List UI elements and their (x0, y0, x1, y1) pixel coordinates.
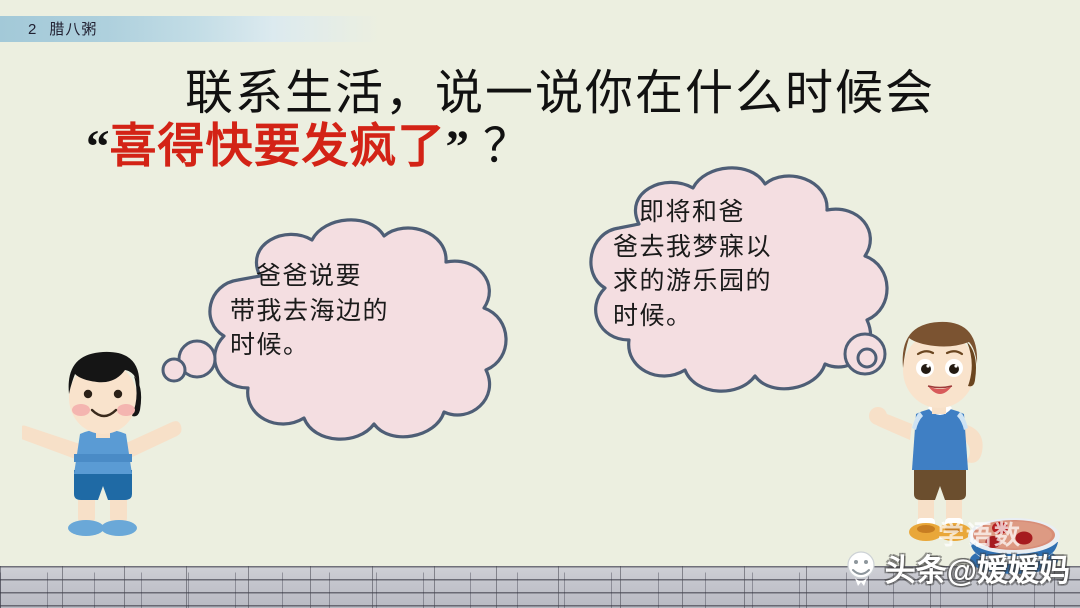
thought-bubble-right: 即将和爸爸去我梦寐以求的游乐园的时候。 (565, 168, 905, 408)
watermark-handle: @嫒嫒妈 (947, 553, 1070, 588)
boy-black-hair-illustration (22, 322, 182, 547)
watermark-platform: 头条 (885, 553, 947, 588)
page-title: 联系生活，说一说你在什么时候会 “喜得快要发疯了”？ (0, 68, 1080, 174)
lesson-number: 2 (28, 21, 37, 38)
watermark: 头条@嫒嫒妈 (841, 545, 1070, 590)
lesson-title: 腊八粥 (49, 21, 97, 38)
question-mark: ？ (483, 121, 530, 173)
title-highlight: 喜得快要发疯了 (110, 121, 446, 173)
character-boy-left (22, 322, 182, 547)
watermark-text: 头条@嫒嫒妈 (885, 545, 1070, 590)
thought-bubble-left: 爸爸说要带我去海边的时候。 (182, 218, 522, 448)
open-quote: “ (86, 121, 110, 173)
title-line-2: “喜得快要发疯了”？ (0, 122, 1080, 174)
title-line-1: 联系生活，说一说你在什么时候会 (0, 68, 1080, 120)
toutiao-logo-icon (841, 549, 881, 587)
thought-bubble-right-text: 即将和爸爸去我梦寐以求的游乐园的时候。 (613, 196, 863, 334)
slide-canvas: 2腊八粥 联系生活，说一说你在什么时候会 “喜得快要发疯了”？ 爸爸说要带我去海… (0, 0, 1080, 608)
breadcrumb: 2腊八粥 (28, 18, 97, 39)
close-quote: ” (446, 121, 470, 173)
thought-bubble-left-text: 爸爸说要带我去海边的时候。 (230, 260, 470, 364)
